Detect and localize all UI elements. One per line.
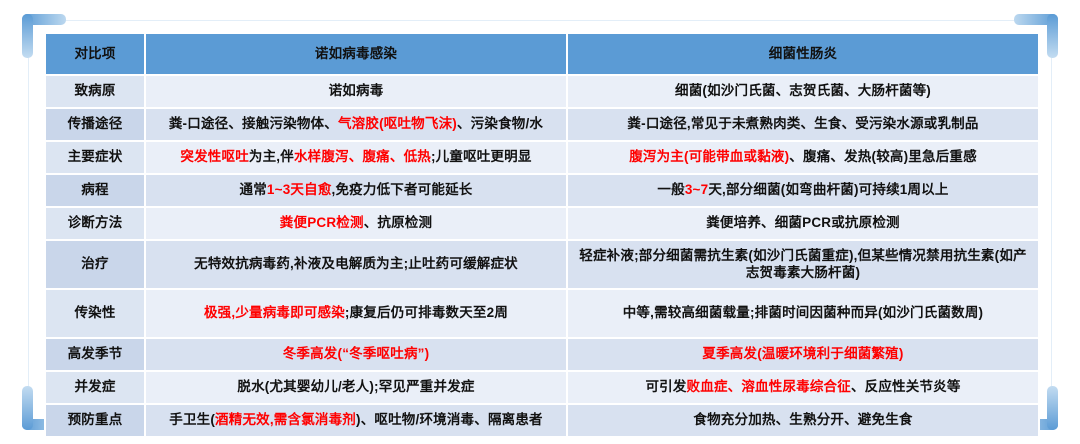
row-label: 预防重点 [46,405,144,436]
table-header: 对比项 诺如病毒感染 细菌性肠炎 [46,34,1038,74]
cell-bacterial: 腹泻为主(可能带血或黏液)、腹痛、发热(较高)里急后重感 [568,142,1038,173]
cell-norovirus: 诺如病毒 [146,76,566,107]
cell-norovirus: 手卫生(酒精无效,需含氯消毒剂)、呕吐物/环境消毒、隔离患者 [146,405,566,436]
cell-norovirus: 冬季高发(“冬季呕吐病”) [146,339,566,370]
cell-bacterial: 一般3~7天,部分细菌(如弯曲杆菌)可持续1周以上 [568,175,1038,206]
cell-bacterial: 粪便培养、细菌PCR或抗原检测 [568,208,1038,239]
table-row: 传播途径粪-口途径、接触污染物体、气溶胶(呕吐物飞沫)、污染食物/水粪-口途径,… [46,109,1038,140]
emphasis-text: 败血症、溶血性尿毒综合征 [687,379,851,394]
table-row: 传染性极强,少量病毒即可感染;康复后仍可排毒数天至2周中等,需较高细菌载量;排菌… [46,290,1038,337]
page-root: 对比项 诺如病毒感染 细菌性肠炎 致病原诺如病毒细菌(如沙门氏菌、志贺氏菌、大肠… [0,0,1080,444]
table-row: 治疗无特效抗病毒药,补液及电解质为主;止吐药可缓解症状轻症补液;部分细菌需抗生素… [46,241,1038,288]
cell-norovirus: 无特效抗病毒药,补液及电解质为主;止吐药可缓解症状 [146,241,566,288]
column-header-item: 对比项 [46,34,144,74]
cell-text: 可引发 [645,379,686,394]
row-label: 治疗 [46,241,144,288]
table-row: 主要症状突发性呕吐为主,伴水样腹泻、腹痛、低热;儿童呕吐更明显腹泻为主(可能带血… [46,142,1038,173]
cell-text: 一般 [657,182,684,197]
cell-bacterial: 食物充分加热、生熟分开、避免生食 [568,405,1038,436]
cell-text: 中等,需较高细菌载量;排菌时间因菌种而异(如沙门氏菌数周) [623,305,984,320]
cell-bacterial: 粪-口途径,常见于未煮熟肉类、生食、受污染水源或乳制品 [568,109,1038,140]
cell-text: 食物充分加热、生熟分开、避免生食 [693,412,912,427]
table-row: 病程通常1~3天自愈,免疫力低下者可能延长一般3~7天,部分细菌(如弯曲杆菌)可… [46,175,1038,206]
emphasis-text: 水样腹泻、腹痛、低热 [294,149,431,164]
column-header-bacterial: 细菌性肠炎 [568,34,1038,74]
column-header-norovirus: 诺如病毒感染 [146,34,566,74]
cell-bacterial: 中等,需较高细菌载量;排菌时间因菌种而异(如沙门氏菌数周) [568,290,1038,337]
cell-bacterial: 可引发败血症、溶血性尿毒综合征、反应性关节炎等 [568,372,1038,403]
cell-text: 、腹痛、发热(较高)里急后重感 [789,149,977,164]
emphasis-text: 腹泻为主(可能带血或黏液) [629,149,789,164]
row-label: 病程 [46,175,144,206]
emphasis-text: 极强,少量病毒即可感染 [204,305,345,320]
cell-text: 脱水(尤其婴幼儿/老人);罕见严重并发症 [237,379,474,394]
table-row: 高发季节冬季高发(“冬季呕吐病”)夏季高发(温暖环境利于细菌繁殖) [46,339,1038,370]
row-label: 致病原 [46,76,144,107]
comparison-table: 对比项 诺如病毒感染 细菌性肠炎 致病原诺如病毒细菌(如沙门氏菌、志贺氏菌、大肠… [44,32,1040,438]
corner-arm-vertical [1047,386,1058,430]
emphasis-text: 夏季高发(温暖环境利于细菌繁殖) [702,346,903,361]
cell-bacterial: 夏季高发(温暖环境利于细菌繁殖) [568,339,1038,370]
corner-arm-vertical [22,14,33,58]
table-row: 诊断方法粪便PCR检测、抗原检测粪便培养、细菌PCR或抗原检测 [46,208,1038,239]
corner-arm-horizontal [1014,14,1058,25]
cell-text: 粪-口途径,常见于未煮熟肉类、生食、受污染水源或乳制品 [627,116,978,131]
emphasis-text: 酒精无效,需含氯消毒剂 [215,412,356,427]
cell-text: 通常 [240,182,267,197]
table-row: 预防重点手卫生(酒精无效,需含氯消毒剂)、呕吐物/环境消毒、隔离患者食物充分加热… [46,405,1038,436]
cell-text: 粪便培养、细菌PCR或抗原检测 [706,215,900,230]
table-header-row: 对比项 诺如病毒感染 细菌性肠炎 [46,34,1038,74]
row-label: 高发季节 [46,339,144,370]
cell-text: 粪-口途径、接触污染物体、 [169,116,338,131]
table-row: 致病原诺如病毒细菌(如沙门氏菌、志贺氏菌、大肠杆菌等) [46,76,1038,107]
row-label: 传染性 [46,290,144,337]
cell-text: 、污染食物/水 [457,116,543,131]
emphasis-text: 粪便PCR检测 [280,215,364,230]
cell-text: ,免疫力低下者可能延长 [332,182,473,197]
cell-text: ;康复后仍可排毒数天至2周 [345,305,508,320]
cell-norovirus: 突发性呕吐为主,伴水样腹泻、腹痛、低热;儿童呕吐更明显 [146,142,566,173]
cell-bacterial: 轻症补液;部分细菌需抗生素(如沙门氏菌重症),但某些情况禁用抗生素(如产志贺毒素… [568,241,1038,288]
emphasis-text: 冬季高发(“冬季呕吐病”) [283,346,430,361]
row-label: 并发症 [46,372,144,403]
cell-text: 为主,伴 [249,149,294,164]
cell-bacterial: 细菌(如沙门氏菌、志贺氏菌、大肠杆菌等) [568,76,1038,107]
row-label: 主要症状 [46,142,144,173]
cell-text: )、呕吐物/环境消毒、隔离患者 [356,412,543,427]
corner-arm-horizontal [22,14,66,25]
cell-norovirus: 极强,少量病毒即可感染;康复后仍可排毒数天至2周 [146,290,566,337]
table-body: 致病原诺如病毒细菌(如沙门氏菌、志贺氏菌、大肠杆菌等)传播途径粪-口途径、接触污… [46,76,1038,436]
row-label: 传播途径 [46,109,144,140]
cell-text: ;儿童呕吐更明显 [431,149,532,164]
cell-text: 天,部分细菌(如弯曲杆菌)可持续1周以上 [708,182,948,197]
cell-norovirus: 粪便PCR检测、抗原检测 [146,208,566,239]
cell-norovirus: 通常1~3天自愈,免疫力低下者可能延长 [146,175,566,206]
emphasis-text: 突发性呕吐 [180,149,249,164]
cell-norovirus: 脱水(尤其婴幼儿/老人);罕见严重并发症 [146,372,566,403]
corner-arm-vertical [1047,14,1058,58]
cell-text: 轻症补液;部分细菌需抗生素(如沙门氏菌重症),但某些情况禁用抗生素(如产志贺毒素… [579,248,1026,280]
cell-text: 、反应性关节炎等 [851,379,961,394]
cell-text: 手卫生( [169,412,215,427]
cell-text: 诺如病毒 [329,83,384,98]
table-row: 并发症脱水(尤其婴幼儿/老人);罕见严重并发症可引发败血症、溶血性尿毒综合征、反… [46,372,1038,403]
cell-text: 、抗原检测 [364,215,433,230]
cell-text: 无特效抗病毒药,补液及电解质为主;止吐药可缓解症状 [194,256,518,271]
emphasis-text: 3~7 [685,182,709,197]
cell-text: 细菌(如沙门氏菌、志贺氏菌、大肠杆菌等) [675,83,931,98]
emphasis-text: 气溶胶(呕吐物飞沫) [338,116,457,131]
emphasis-text: 1~3天自愈 [267,182,332,197]
cell-norovirus: 粪-口途径、接触污染物体、气溶胶(呕吐物飞沫)、污染食物/水 [146,109,566,140]
row-label: 诊断方法 [46,208,144,239]
corner-arm-vertical [22,386,33,430]
